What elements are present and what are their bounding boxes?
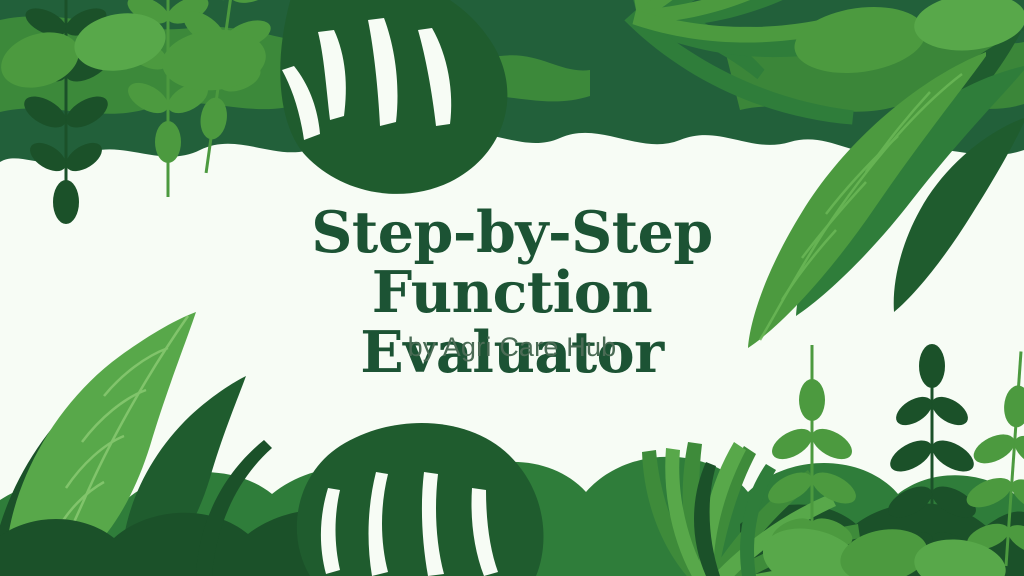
title-slide: Step-by-Step Function Evaluator by Agri …	[0, 0, 1024, 576]
slide-subtitle-attribution: by Agri Care Hub	[182, 330, 842, 364]
slide-content: Step-by-Step Function Evaluator by Agri …	[0, 0, 1024, 576]
